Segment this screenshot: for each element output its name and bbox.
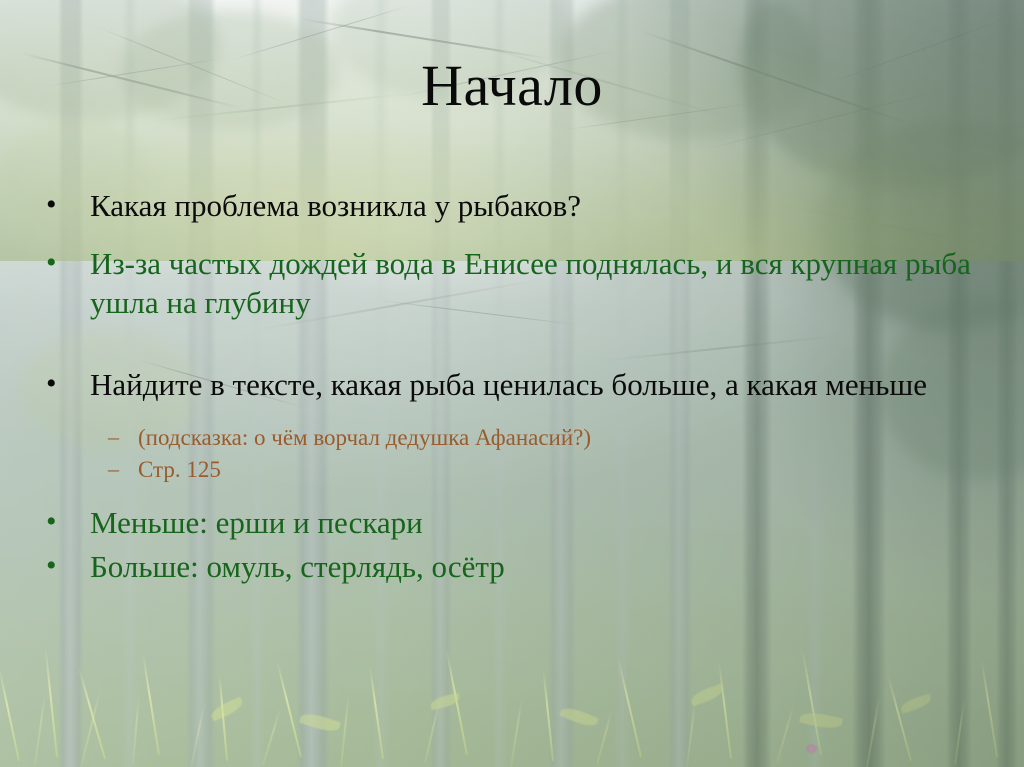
bullet-marker-icon: • [46, 244, 90, 282]
presentation-slide: Начало • Какая проблема возникла у рыбак… [0, 0, 1024, 767]
bullet-item-answer-less-valued: • Меньше: ерши и пескари [46, 503, 986, 543]
bullet-text: Из-за частых дождей вода в Енисее поднял… [90, 244, 986, 323]
bullet-item-answer-more-valued: • Больше: омуль, стерлядь, осётр [46, 547, 986, 587]
dash-marker-icon: – [108, 455, 138, 484]
bullet-marker-icon: • [46, 547, 90, 585]
sub-bullet-item-hint: – (подсказка: о чём ворчал дедушка Афана… [46, 423, 986, 453]
bullet-text: Какая проблема возникла у рыбаков? [90, 186, 986, 226]
bullet-marker-icon: • [46, 503, 90, 541]
dash-marker-icon: – [108, 423, 138, 452]
bullet-item-task-find-in-text: • Найдите в тексте, какая рыба ценилась … [46, 365, 986, 405]
slide-title: Начало [0, 56, 1024, 117]
bullet-marker-icon: • [46, 365, 90, 403]
bullet-item-question-problem: • Какая проблема возникла у рыбаков? [46, 186, 986, 226]
bullet-text: Меньше: ерши и пескари [90, 503, 986, 543]
bullet-marker-icon: • [46, 186, 90, 224]
bullet-item-answer-rain: • Из-за частых дождей вода в Енисее подн… [46, 244, 986, 323]
slide-content: Начало • Какая проблема возникла у рыбак… [0, 0, 1024, 767]
sub-bullet-text: (подсказка: о чём ворчал дедушка Афанаси… [138, 423, 986, 453]
bullet-list: • Какая проблема возникла у рыбаков? • И… [46, 186, 986, 591]
bullet-text: Больше: омуль, стерлядь, осётр [90, 547, 986, 587]
sub-bullet-item-page-reference: – Стр. 125 [46, 455, 986, 485]
bullet-text: Найдите в тексте, какая рыба ценилась бо… [90, 365, 986, 405]
sub-bullet-text: Стр. 125 [138, 455, 986, 485]
